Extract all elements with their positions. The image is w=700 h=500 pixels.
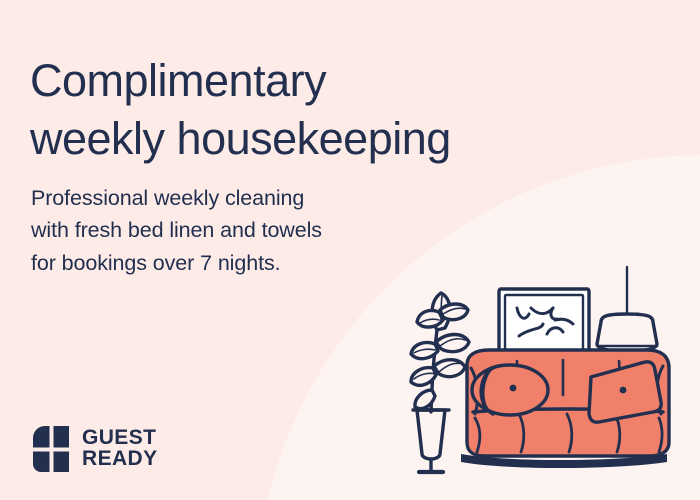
round-cushion-icon [472, 365, 548, 415]
guestready-quadrant-mark-icon [31, 424, 71, 474]
description-text: Professional weekly cleaning with fresh … [31, 182, 451, 280]
page-title: Complimentary weekly housekeeping [30, 52, 630, 167]
living-room-illustration [395, 262, 695, 500]
brand-wordmark-line1: GUEST [82, 428, 158, 449]
promo-card: Complimentary weekly housekeeping Profes… [0, 0, 700, 500]
framed-picture-icon [499, 289, 589, 357]
potted-plant-icon [411, 293, 469, 472]
brand-logo: GUEST READY [31, 424, 158, 474]
brand-wordmark: GUEST READY [82, 428, 158, 470]
brand-wordmark-line2: READY [82, 449, 158, 470]
card-content: Complimentary weekly housekeeping Profes… [0, 0, 700, 500]
